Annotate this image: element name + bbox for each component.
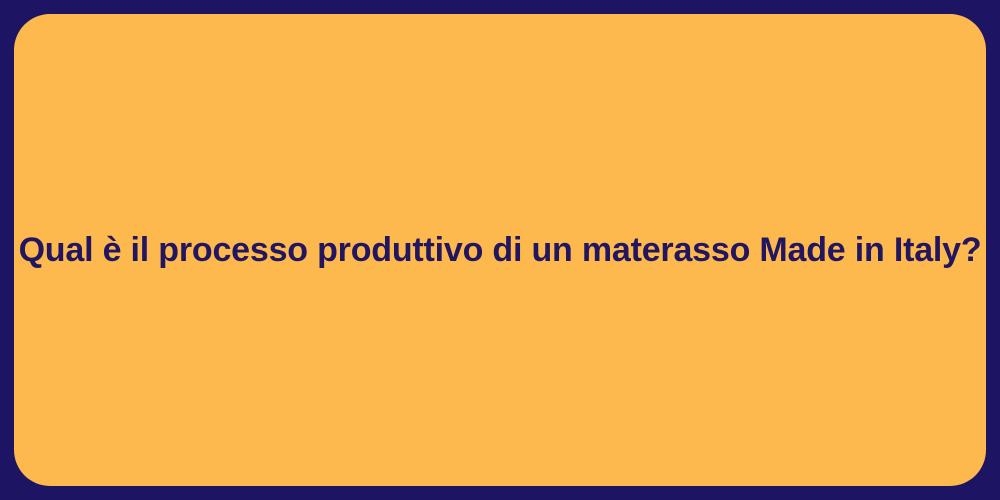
question-card-panel: Qual è il processo produttivo di un mate… [14, 14, 986, 486]
question-heading: Qual è il processo produttivo di un mate… [19, 229, 982, 272]
question-card-frame: Qual è il processo produttivo di un mate… [0, 0, 1000, 500]
